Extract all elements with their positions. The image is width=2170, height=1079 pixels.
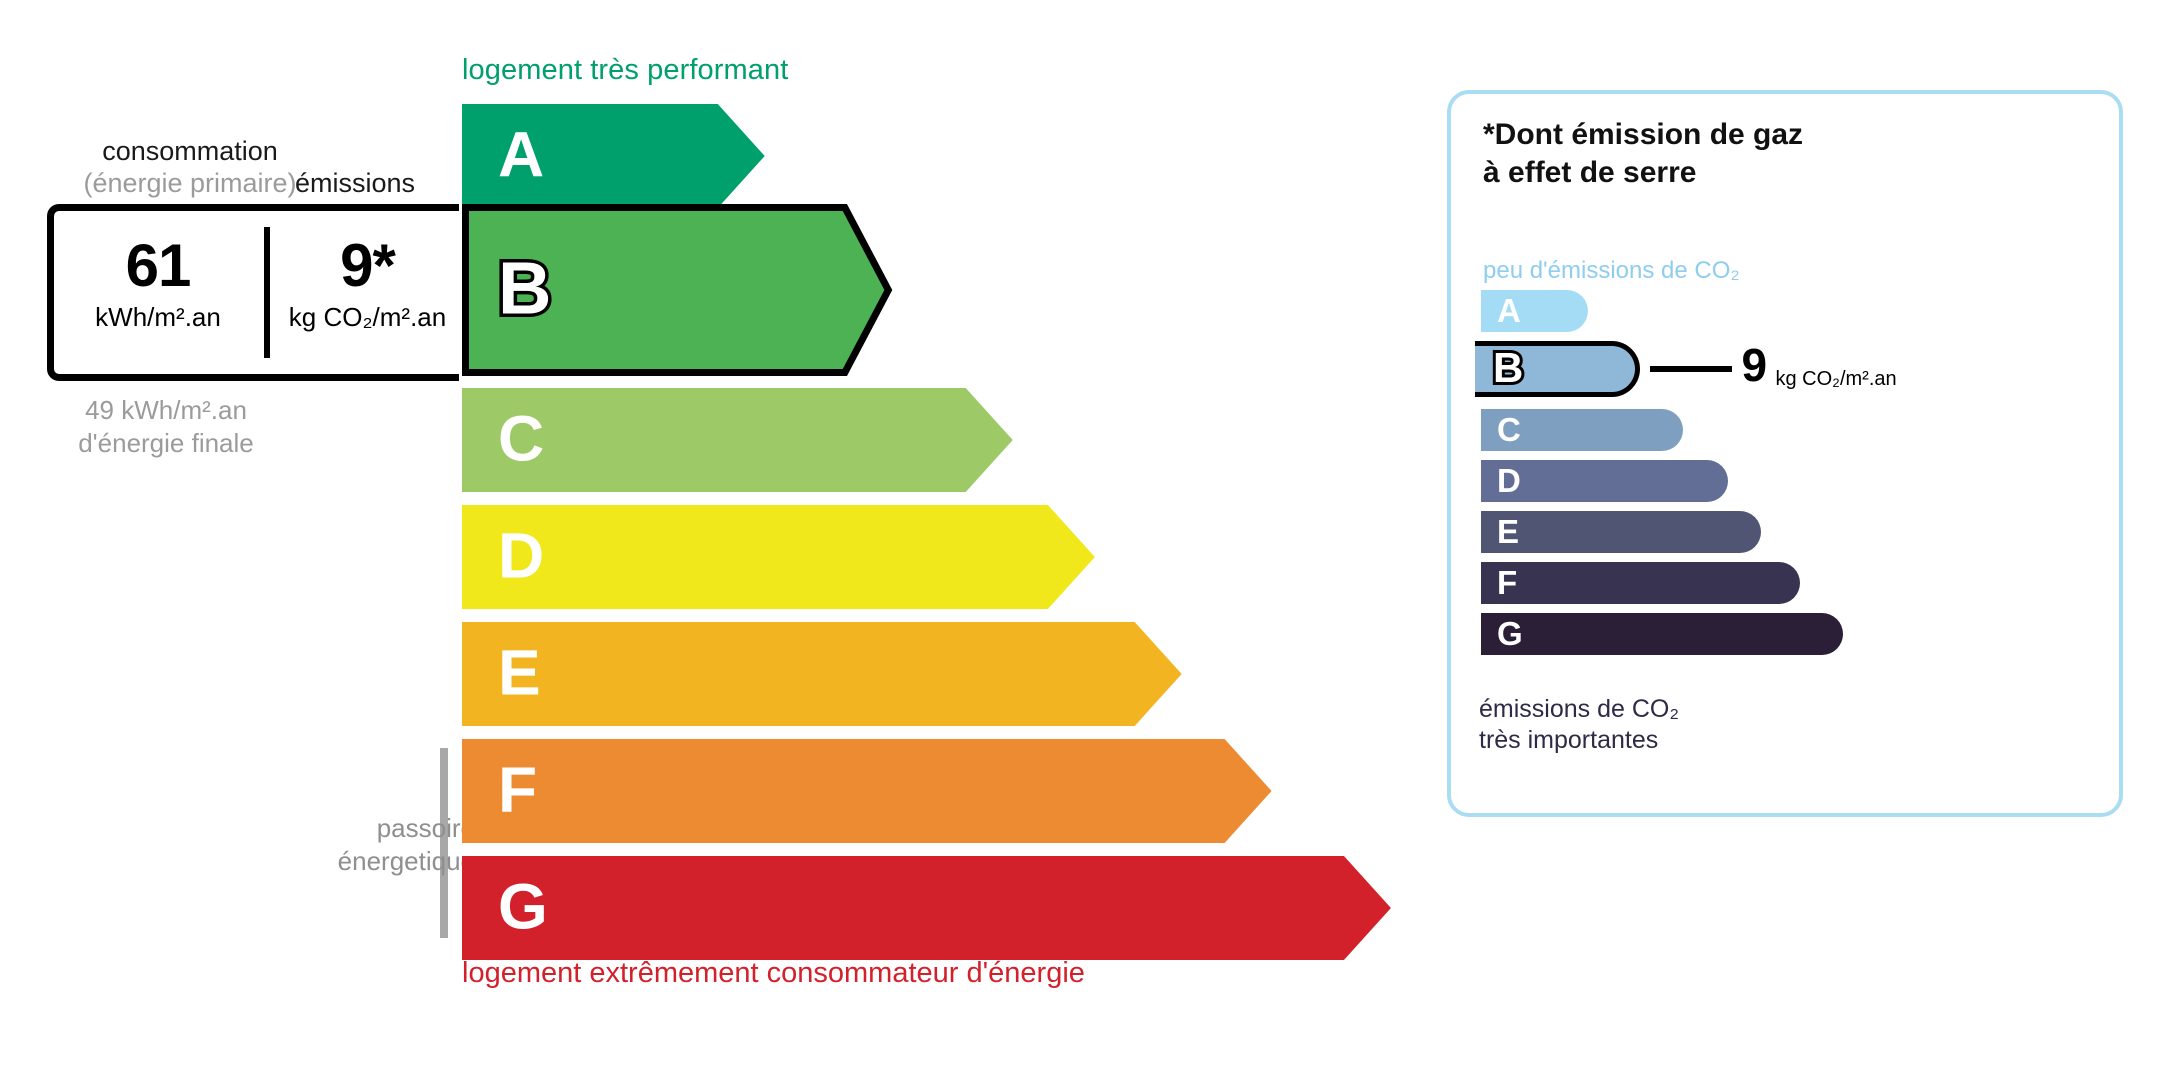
co2-class-letter-d: D [1497, 464, 1521, 497]
co2-bar-g: G [1481, 613, 1843, 655]
co2-bar-a: A [1481, 290, 1588, 332]
co2-bar-d: D [1481, 460, 1728, 502]
energy-class-letter-d: D [498, 524, 544, 588]
co2-bottom-line1: émissions de CO₂ [1479, 694, 1679, 725]
passoire-line2: énergetique [255, 845, 475, 878]
energy-arrow-e [462, 622, 1182, 726]
passoire-label: passoire énergetique [255, 812, 475, 878]
energy-arrow-c [462, 388, 1013, 492]
energy-class-row-g: G [462, 856, 1391, 960]
energy-class-letter-b: B [498, 252, 551, 326]
energy-class-row-c: C [462, 388, 1013, 492]
co2-class-letter-c: C [1497, 413, 1521, 446]
co2-bar-b: B [1475, 341, 1640, 397]
energy-rating-panel: logement très performant consommation (é… [0, 0, 1380, 1079]
value-box-divider [264, 227, 270, 358]
emissions-label: émissions [275, 168, 435, 199]
co2-panel: *Dont émission de gaz à effet de serre p… [1447, 90, 2123, 817]
co2-class-row-f: F [1481, 562, 1800, 604]
emissions-value-cell: 9* kg CO₂/m².an [275, 236, 460, 333]
co2-bottom-caption: émissions de CO₂ très importantes [1479, 694, 1679, 756]
consumption-unit: kWh/m².an [55, 302, 261, 333]
co2-class-letter-f: F [1497, 566, 1517, 599]
co2-class-row-d: D [1481, 460, 1728, 502]
co2-top-caption: peu d'émissions de CO₂ [1483, 257, 1740, 285]
energy-top-caption: logement très performant [462, 54, 788, 87]
energy-class-letter-g: G [498, 875, 548, 939]
co2-class-row-g: G [1481, 613, 1843, 655]
co2-class-letter-a: A [1497, 294, 1521, 327]
energy-arrow-f [462, 739, 1272, 843]
co2-class-letter-e: E [1497, 515, 1519, 548]
emissions-value: 9* [275, 236, 460, 296]
consumption-value-cell: 61 kWh/m².an [55, 236, 261, 333]
energy-class-letter-e: E [498, 641, 541, 705]
energy-arrow-g [462, 856, 1391, 960]
co2-class-letter-b: B [1493, 347, 1523, 389]
co2-class-row-c: C [1481, 409, 1683, 451]
energy-class-row-f: F [462, 739, 1272, 843]
energy-arrow-d [462, 505, 1095, 609]
co2-callout-leader-line [1650, 366, 1732, 372]
co2-title-line2: à effet de serre [1483, 154, 1803, 192]
energy-bottom-caption: logement extrêmement consommateur d'éner… [462, 957, 1085, 990]
energy-class-row-b: B [462, 204, 892, 376]
energy-class-letter-a: A [498, 123, 544, 187]
final-energy-note: 49 kWh/m².an d'énergie finale [36, 394, 296, 460]
co2-bar-e: E [1481, 511, 1761, 553]
co2-panel-title: *Dont émission de gaz à effet de serre [1483, 116, 1803, 192]
co2-class-row-a: A [1481, 290, 1588, 332]
energy-class-row-d: D [462, 505, 1095, 609]
co2-bar-c: C [1481, 409, 1683, 451]
consumption-value: 61 [55, 236, 261, 296]
final-energy-value: 49 kWh/m².an [36, 394, 296, 427]
co2-bar-f: F [1481, 562, 1800, 604]
co2-class-row-b: B [1475, 341, 1640, 397]
passoire-line1: passoire [255, 812, 475, 845]
consumption-label: consommation [65, 136, 315, 167]
co2-callout-unit: kg CO₂/m².an [1776, 368, 1897, 391]
energy-class-row-a: A [462, 104, 765, 208]
co2-class-row-e: E [1481, 511, 1761, 553]
emissions-unit: kg CO₂/m².an [275, 302, 460, 333]
co2-class-letter-g: G [1497, 617, 1523, 650]
co2-bottom-line2: très importantes [1479, 725, 1679, 756]
co2-title-line1: *Dont émission de gaz [1483, 116, 1803, 154]
energy-class-letter-f: F [498, 758, 537, 822]
final-energy-caption: d'énergie finale [36, 427, 296, 460]
energy-class-row-e: E [462, 622, 1182, 726]
co2-callout-value: 9 [1742, 342, 1768, 388]
energy-class-letter-c: C [498, 407, 544, 471]
